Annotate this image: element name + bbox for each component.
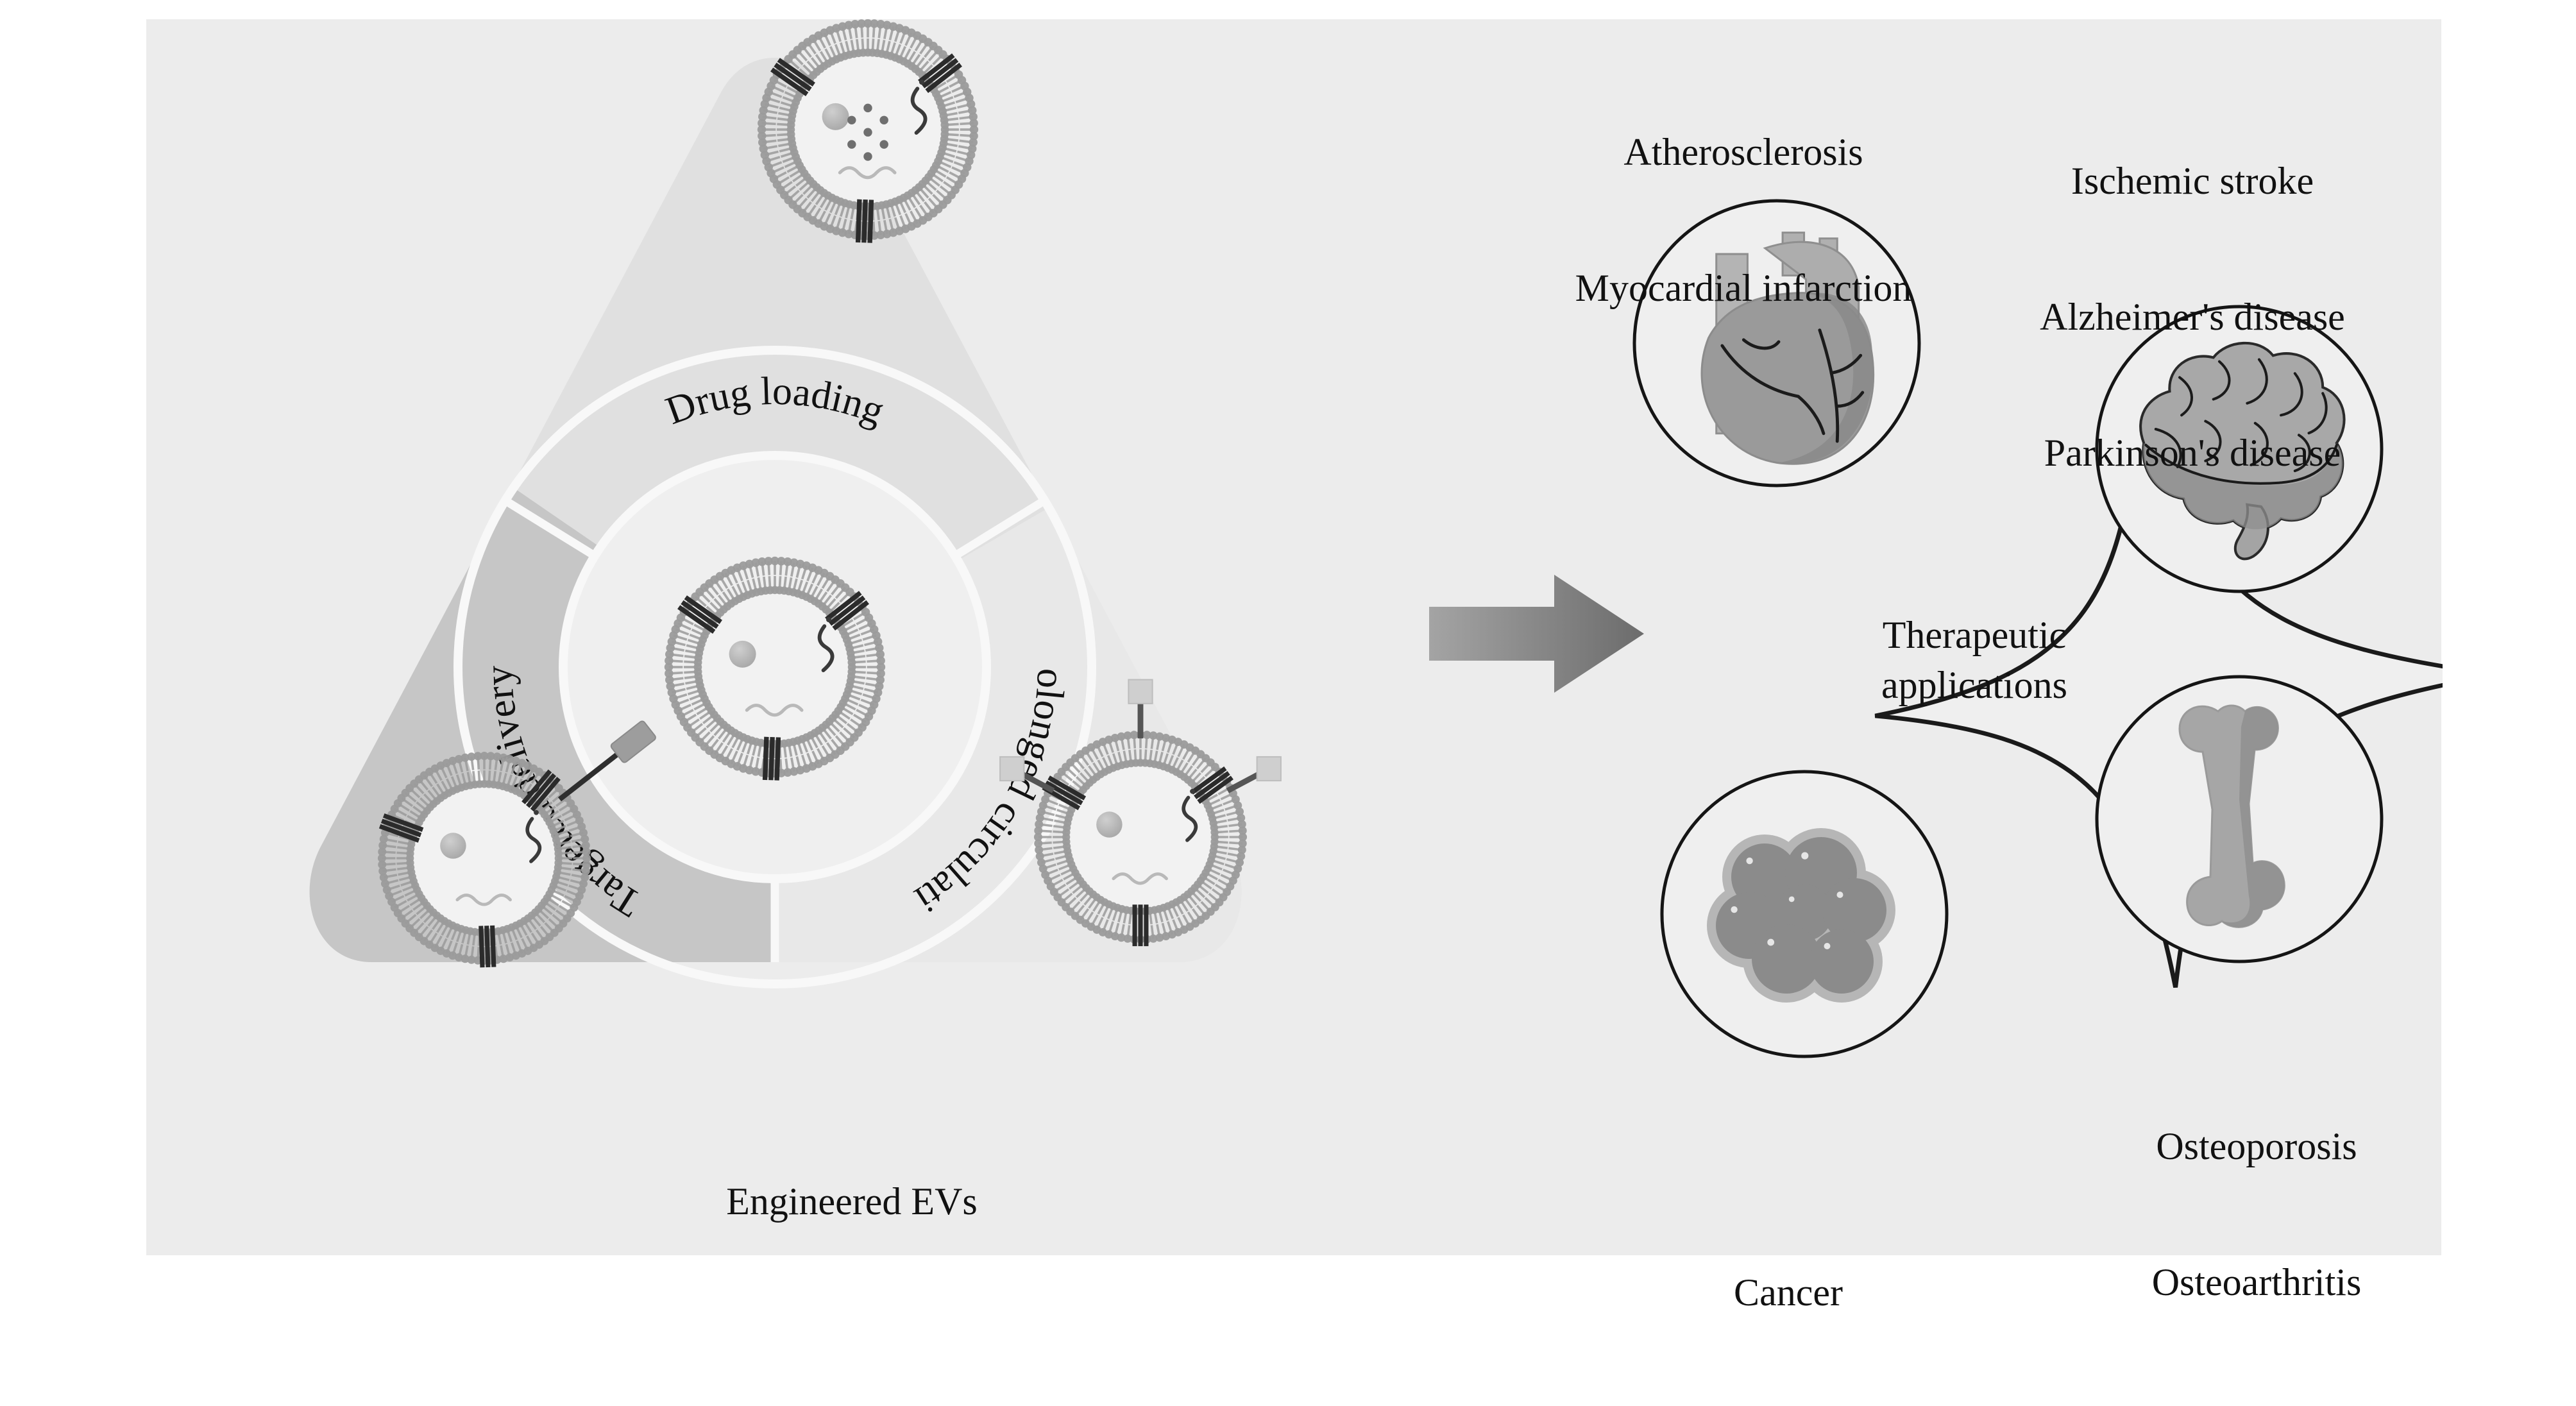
left-panel-caption: Engineered EVs	[691, 1179, 1012, 1224]
figure-panel: Drug loading Targeted delivery Prolonged…	[146, 19, 2441, 1255]
burst-label-line1: Therapeutic	[1883, 614, 2067, 656]
engineered-ev-wheel: Drug loading Targeted delivery Prolonged…	[146, 19, 1403, 1174]
burst-label-line2: applications	[1881, 664, 2067, 706]
label-neuro-block: Ischemic stroke Alzheimer's disease Park…	[1968, 67, 2417, 567]
label-cancer-block: Cancer	[1628, 1179, 1949, 1406]
label-line: Myocardial infarction	[1506, 266, 1981, 311]
label-line: Ischemic stroke	[1968, 158, 2417, 204]
label-line: Atherosclerosis	[1506, 130, 1981, 175]
label-line: Osteoarthritis	[2032, 1260, 2481, 1305]
label-line: Osteoporosis	[2032, 1124, 2481, 1169]
target-cancer	[1662, 772, 1947, 1056]
target-bone	[2097, 677, 2382, 961]
label-line: Alzheimer's disease	[1968, 294, 2417, 340]
label-bone-block: Osteoporosis Osteoarthritis	[2032, 1033, 2481, 1396]
label-atherosclerosis-block: Atherosclerosis Myocardial infarction	[1506, 38, 1981, 402]
label-line: Cancer	[1628, 1270, 1949, 1316]
label-line: Parkinson's disease	[1968, 430, 2417, 476]
